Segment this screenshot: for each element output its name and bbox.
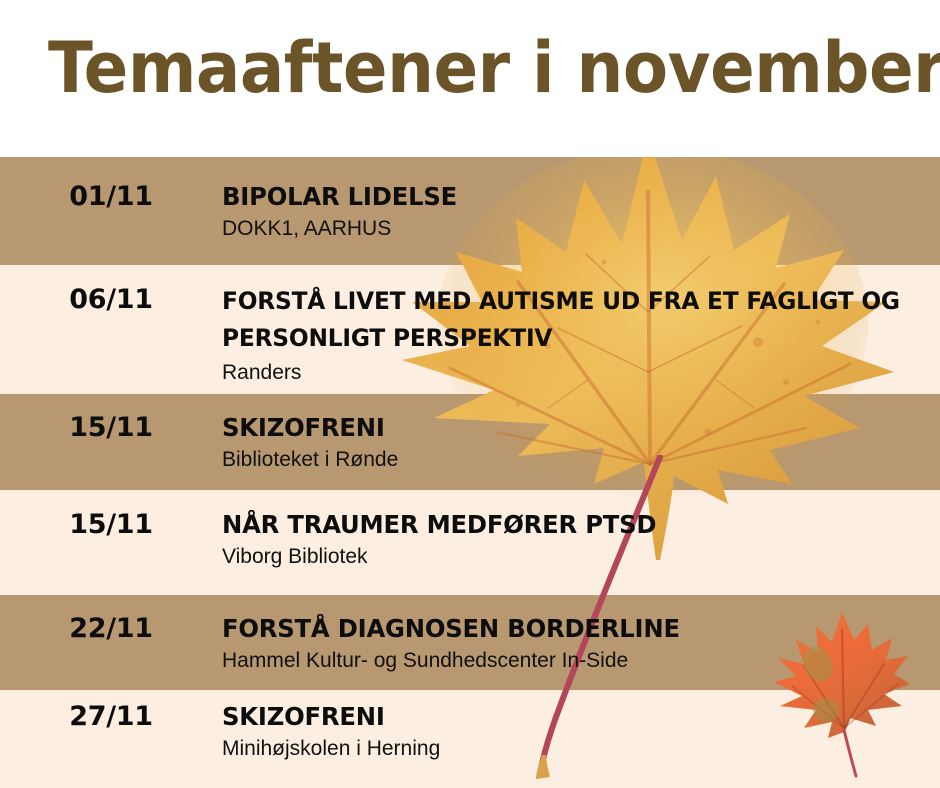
event-date: 22/11 (0, 612, 222, 644)
schedule-row[interactable]: 06/11FORSTÅ LIVET MED AUTISME UD FRA ET … (0, 283, 940, 386)
event-venue: DOKK1, AARHUS (222, 215, 928, 242)
event-details: BIPOLAR LIDELSEDOKK1, AARHUS (222, 180, 940, 242)
event-venue: Minihøjskolen i Herning (222, 735, 928, 762)
event-title: BIPOLAR LIDELSE (222, 180, 907, 213)
event-title: SKIZOFRENI (222, 411, 907, 444)
schedule-row[interactable]: 27/11SKIZOFRENIMinihøjskolen i Herning (0, 700, 940, 762)
event-title: SKIZOFRENI (222, 700, 907, 733)
event-details: SKIZOFRENIBiblioteket i Rønde (222, 411, 940, 473)
poster-canvas: Temaaftener i november 01/11BIPOLAR LIDE… (0, 0, 940, 788)
schedule-row[interactable]: 22/11FORSTÅ DIAGNOSEN BORDERLINEHammel K… (0, 612, 940, 674)
event-date: 01/11 (0, 180, 222, 212)
event-details: NÅR TRAUMER MEDFØRER PTSDViborg Bibliote… (222, 508, 940, 570)
event-title: FORSTÅ DIAGNOSEN BORDERLINE (222, 612, 907, 645)
event-details: FORSTÅ LIVET MED AUTISME UD FRA ET FAGLI… (222, 283, 940, 386)
event-venue: Randers (222, 359, 928, 386)
event-details: FORSTÅ DIAGNOSEN BORDERLINEHammel Kultur… (222, 612, 940, 674)
schedule-row[interactable]: 15/11NÅR TRAUMER MEDFØRER PTSDViborg Bib… (0, 508, 940, 570)
event-date: 06/11 (0, 283, 222, 315)
event-venue: Biblioteket i Rønde (222, 446, 928, 473)
event-venue: Viborg Bibliotek (222, 543, 928, 570)
event-title: NÅR TRAUMER MEDFØRER PTSD (222, 508, 907, 541)
page-title: Temaaftener i november (48, 26, 940, 110)
schedule-row[interactable]: 01/11BIPOLAR LIDELSEDOKK1, AARHUS (0, 180, 940, 242)
event-title: FORSTÅ LIVET MED AUTISME UD FRA ET FAGLI… (222, 283, 907, 357)
event-date: 27/11 (0, 700, 222, 732)
poster-header: Temaaftener i november (0, 0, 940, 157)
event-date: 15/11 (0, 411, 222, 443)
schedule-row[interactable]: 15/11SKIZOFRENIBiblioteket i Rønde (0, 411, 940, 473)
event-venue: Hammel Kultur- og Sundhedscenter In-Side (222, 647, 928, 674)
event-details: SKIZOFRENIMinihøjskolen i Herning (222, 700, 940, 762)
event-date: 15/11 (0, 508, 222, 540)
